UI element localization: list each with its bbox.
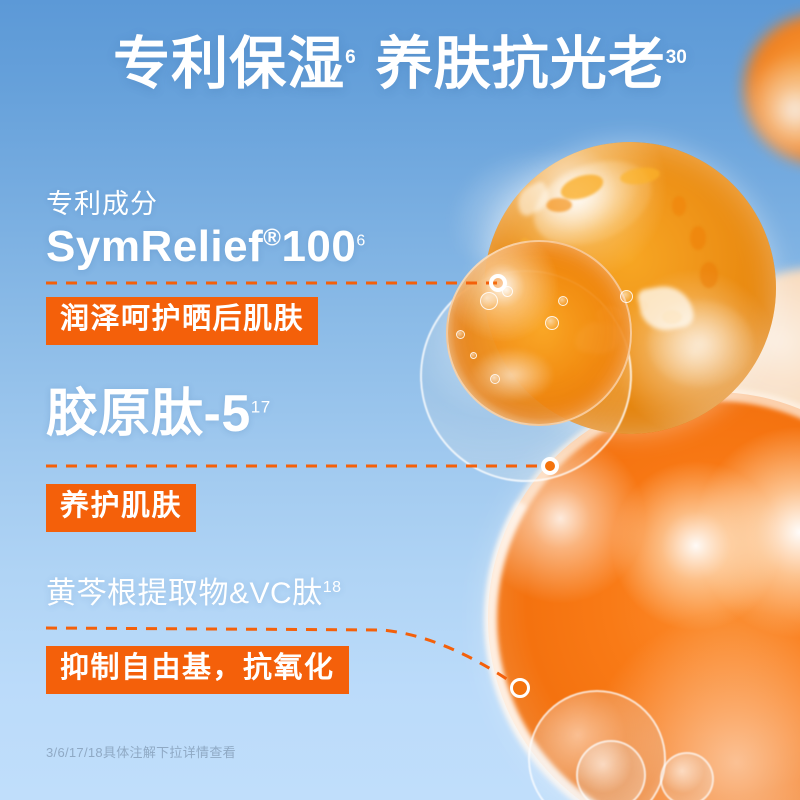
connector-line-2	[46, 458, 556, 478]
feature-2-ingredient-name: 胶原肽-5	[46, 385, 251, 443]
feature-1-ingredient-number: 100	[281, 222, 356, 271]
feature-1-ingredient-name: SymRelief	[46, 222, 263, 271]
feature-3-badge: 抑制自由基，抗氧化	[46, 646, 349, 694]
footnote-text: 3/6/17/18具体注解下拉详情查看	[46, 742, 236, 761]
feature-3-ingredient: 黄芩根提取物&VC肽18	[46, 577, 341, 611]
connector-endpoint-2	[541, 457, 559, 475]
feature-3-ingredient-name: 黄芩根提取物&VC肽	[46, 577, 323, 610]
feature-badge-1-wrap: 润泽呵护晒后肌肤	[46, 297, 318, 345]
registered-trademark-icon: ®	[263, 224, 281, 251]
feature-2-superscript: 17	[251, 398, 271, 417]
feature-badge-2-wrap: 养护肌肤	[46, 484, 196, 532]
feature-1-superscript: 6	[356, 232, 365, 249]
connector-endpoint-1	[489, 274, 507, 292]
feature-1-eyebrow: 专利成分	[46, 188, 366, 222]
feature-2-ingredient: 胶原肽-517	[46, 385, 271, 443]
connector-line-1	[46, 275, 506, 295]
feature-block-3: 黄芩根提取物&VC肽18	[46, 577, 341, 611]
feature-badge-3-wrap: 抑制自由基，抗氧化	[46, 646, 349, 694]
feature-1-badge: 润泽呵护晒后肌肤	[46, 297, 318, 345]
feature-2-badge: 养护肌肤	[46, 484, 196, 532]
connector-endpoint-3	[510, 678, 530, 698]
product-feature-banner: 专利保湿6养肤抗光老30 专利成分 SymRelief®1006 润泽呵护晒后肌…	[0, 0, 800, 800]
feature-1-ingredient: SymRelief®1006	[46, 222, 366, 271]
feature-3-superscript: 18	[323, 579, 342, 596]
feature-block-2: 胶原肽-517	[46, 385, 271, 443]
feature-block-1: 专利成分 SymRelief®1006	[46, 188, 366, 271]
